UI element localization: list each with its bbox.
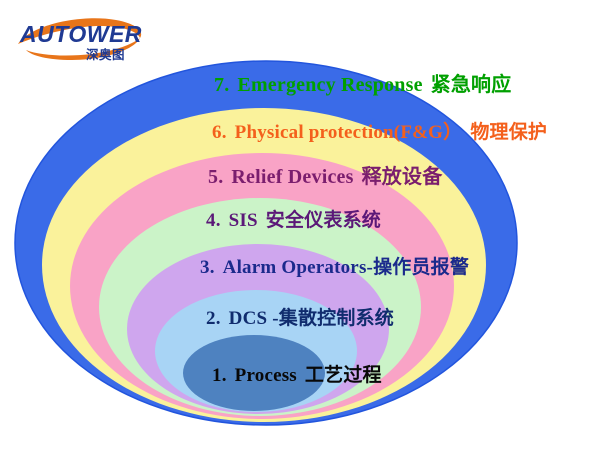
layer-5-label-en: Relief Devices: [231, 166, 353, 188]
layer-4-number: 4.: [206, 210, 221, 231]
layer-label-5-relief-devices: 5.Relief Devices释放设备: [208, 166, 442, 187]
onion-diagram: [0, 0, 600, 464]
layer-1-number: 1.: [212, 365, 227, 386]
layer-1-label-cn: 工艺过程: [305, 364, 382, 386]
layer-7-number: 7.: [214, 74, 229, 96]
layer-label-1-process: 1.Process工艺过程: [212, 366, 382, 385]
layer-7-label-en: Emergency Response: [237, 74, 422, 96]
layer-6-label-en: Physical protection(F&G）: [235, 122, 463, 143]
layer-4-label-cn: 安全仪表系统: [266, 209, 381, 231]
layer-3-label-en: Alarm Operators-: [223, 257, 373, 278]
layer-6-label-cn: 物理保护: [470, 121, 547, 143]
layer-label-2-dcs: 2.DCS -集散控制系统: [206, 309, 394, 328]
layer-3-number: 3.: [200, 257, 215, 278]
layer-label-6-physical-protection: 6.Physical protection(F&G）物理保护: [212, 123, 547, 142]
layer-1-label-en: Process: [235, 365, 297, 386]
layer-label-3-alarm-operators: 3.Alarm Operators-操作员报警: [200, 258, 469, 277]
layer-label-4-sis: 4.SIS安全仪表系统: [206, 211, 381, 230]
layer-2-label-en: DCS -: [229, 308, 279, 329]
layer-2-number: 2.: [206, 308, 221, 329]
layer-2-label-cn: 集散控制系统: [279, 307, 394, 329]
layer-4-label-en: SIS: [229, 210, 258, 231]
layer-5-number: 5.: [208, 166, 223, 188]
layer-3-label-cn: 操作员报警: [373, 256, 469, 278]
slide-canvas: AUTOWER 深奥图 7.Emergency Response紧急响应 6.P…: [0, 0, 600, 464]
layer-label-7-emergency-response: 7.Emergency Response紧急响应: [214, 74, 511, 95]
layer-7-label-cn: 紧急响应: [431, 72, 512, 96]
layer-5-label-cn: 释放设备: [362, 164, 443, 188]
layer-6-number: 6.: [212, 122, 227, 143]
